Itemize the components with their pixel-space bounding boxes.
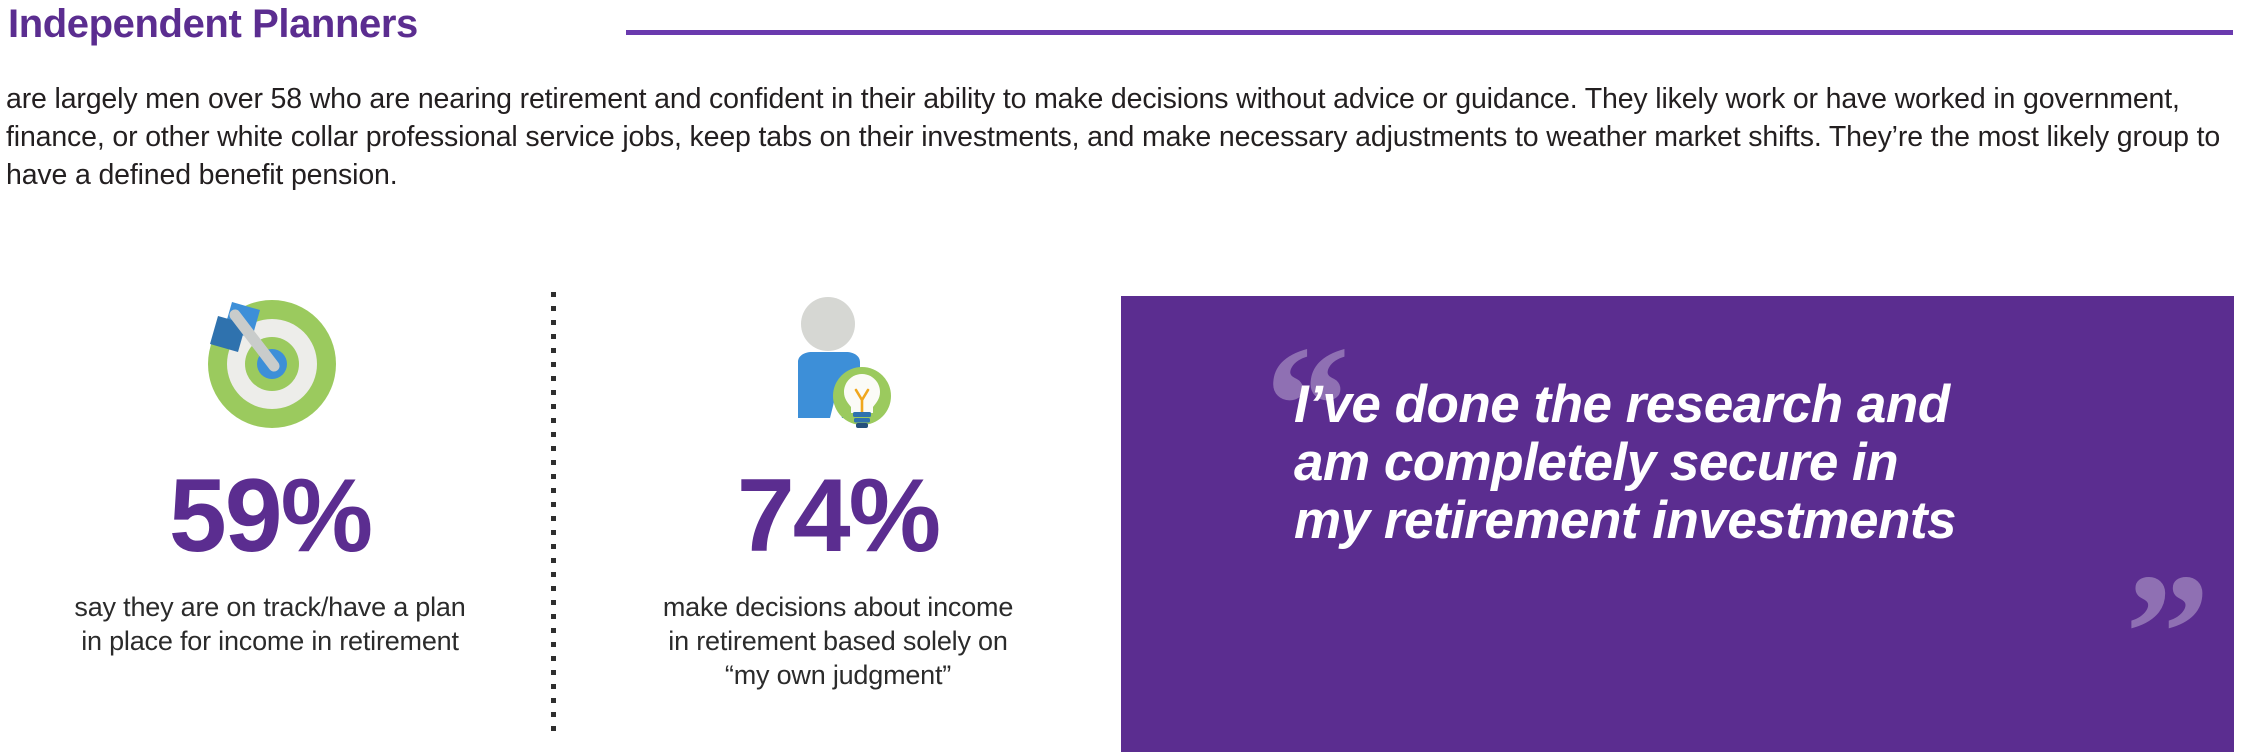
stat-caption-line: in place for income in retirement	[81, 626, 459, 656]
quote-text: I’ve done the research and am completely…	[1294, 376, 2194, 550]
stat-column-dotted-divider	[551, 292, 556, 732]
page-title: Independent Planners	[8, 2, 418, 47]
stat-caption-line: make decisions about income	[663, 592, 1013, 622]
intro-paragraph: are largely men over 58 who are nearing …	[6, 80, 2236, 194]
stat-block-on-track: 59% say they are on track/have a plan in…	[0, 280, 540, 752]
stat-caption-line: “my own judgment”	[725, 660, 951, 690]
stat-icon-wrapper	[568, 280, 1108, 440]
stat-value: 74%	[568, 464, 1108, 568]
stats-region: 59% say they are on track/have a plan in…	[0, 280, 1120, 752]
quote-line: I’ve done the research and	[1294, 376, 2194, 434]
quote-line: am completely secure in	[1294, 434, 2194, 492]
header: Independent Planners	[0, 0, 2244, 58]
header-rule-divider	[626, 30, 2233, 35]
stat-caption: make decisions about income in retiremen…	[568, 590, 1108, 692]
target-bullseye-icon	[194, 282, 346, 439]
stat-value: 59%	[0, 464, 540, 568]
quote-line: my retirement investments	[1294, 492, 2194, 550]
stat-caption: say they are on track/have a plan in pla…	[0, 590, 540, 658]
person-lightbulb-icon	[762, 282, 914, 439]
quote-close-mark-icon: ”	[2125, 548, 2210, 718]
quote-panel: “ I’ve done the research and am complete…	[1121, 296, 2234, 752]
stat-block-own-judgment: 74% make decisions about income in retir…	[568, 280, 1108, 752]
stat-caption-line: in retirement based solely on	[668, 626, 1007, 656]
stat-icon-wrapper	[0, 280, 540, 440]
stat-caption-line: say they are on track/have a plan	[74, 592, 465, 622]
